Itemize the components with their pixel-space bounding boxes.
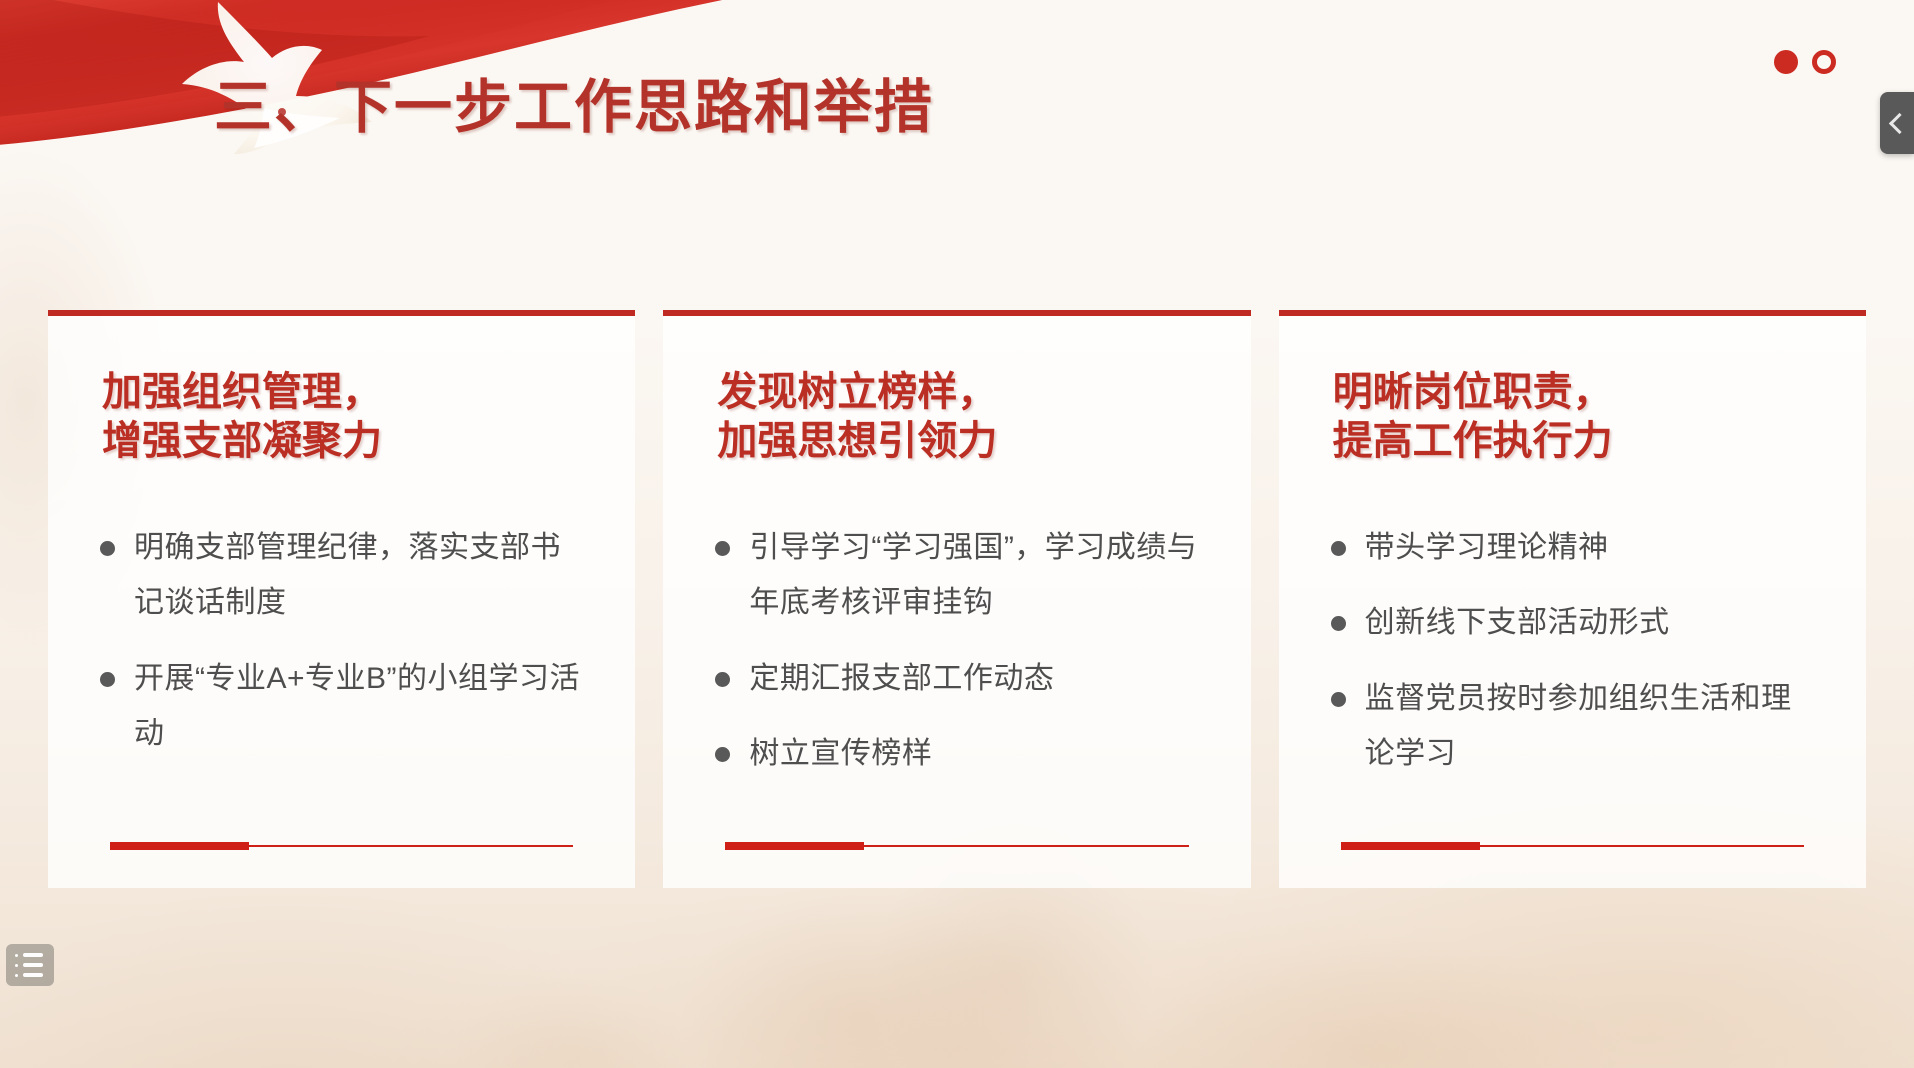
chevron-left-icon (1888, 112, 1909, 133)
presentation-slide: 三、下一步工作思路和举措 加强组织管理， 增强支部凝聚力 明确支部管理纪律，落实… (0, 0, 1914, 1068)
outline-toggle-button[interactable] (6, 944, 54, 986)
list-item: 开展“专业A+专业B”的小组学习活动 (98, 651, 591, 762)
list-item: 明确支部管理纪律，落实支部书记谈话制度 (98, 520, 591, 631)
card-underline (1341, 842, 1804, 850)
card-underline (110, 842, 573, 850)
page-title: 三、下一步工作思路和举措 (214, 78, 934, 139)
card-bullet-list: 引导学习“学习强国”，学习成绩与年底考核评审挂钩 定期汇报支部工作动态 树立宣传… (713, 520, 1206, 802)
list-item: 定期汇报支部工作动态 (713, 651, 1206, 707)
list-item: 监督党员按时参加组织生活和理论学习 (1329, 671, 1822, 782)
card-heading: 发现树立榜样， 加强思想引领力 (717, 368, 1206, 466)
list-item: 带头学习理论精神 (1329, 520, 1822, 576)
list-item: 创新线下支部活动形式 (1329, 595, 1822, 651)
page-dot-active[interactable] (1774, 50, 1798, 74)
title-row: 三、下一步工作思路和举措 (214, 78, 934, 139)
page-dot-inactive[interactable] (1812, 50, 1836, 74)
content-card: 加强组织管理， 增强支部凝聚力 明确支部管理纪律，落实支部书记谈话制度 开展“专… (48, 310, 635, 888)
page-indicator-dots[interactable] (1774, 50, 1836, 74)
list-item: 树立宣传榜样 (713, 726, 1206, 782)
card-heading: 加强组织管理， 增强支部凝聚力 (102, 368, 591, 466)
list-item: 引导学习“学习强国”，学习成绩与年底考核评审挂钩 (713, 520, 1206, 631)
collapse-panel-button[interactable] (1880, 92, 1914, 154)
content-card: 明晰岗位职责， 提高工作执行力 带头学习理论精神 创新线下支部活动形式 监督党员… (1279, 310, 1866, 888)
card-underline (725, 842, 1188, 850)
content-cards: 加强组织管理， 增强支部凝聚力 明确支部管理纪律，落实支部书记谈话制度 开展“专… (48, 310, 1866, 888)
card-heading: 明晰岗位职责， 提高工作执行力 (1333, 368, 1822, 466)
card-bullet-list: 明确支部管理纪律，落实支部书记谈话制度 开展“专业A+专业B”的小组学习活动 (98, 520, 591, 782)
list-outline-icon (15, 953, 54, 957)
content-card: 发现树立榜样， 加强思想引领力 引导学习“学习强国”，学习成绩与年底考核评审挂钩… (663, 310, 1250, 888)
card-bullet-list: 带头学习理论精神 创新线下支部活动形式 监督党员按时参加组织生活和理论学习 (1329, 520, 1822, 802)
